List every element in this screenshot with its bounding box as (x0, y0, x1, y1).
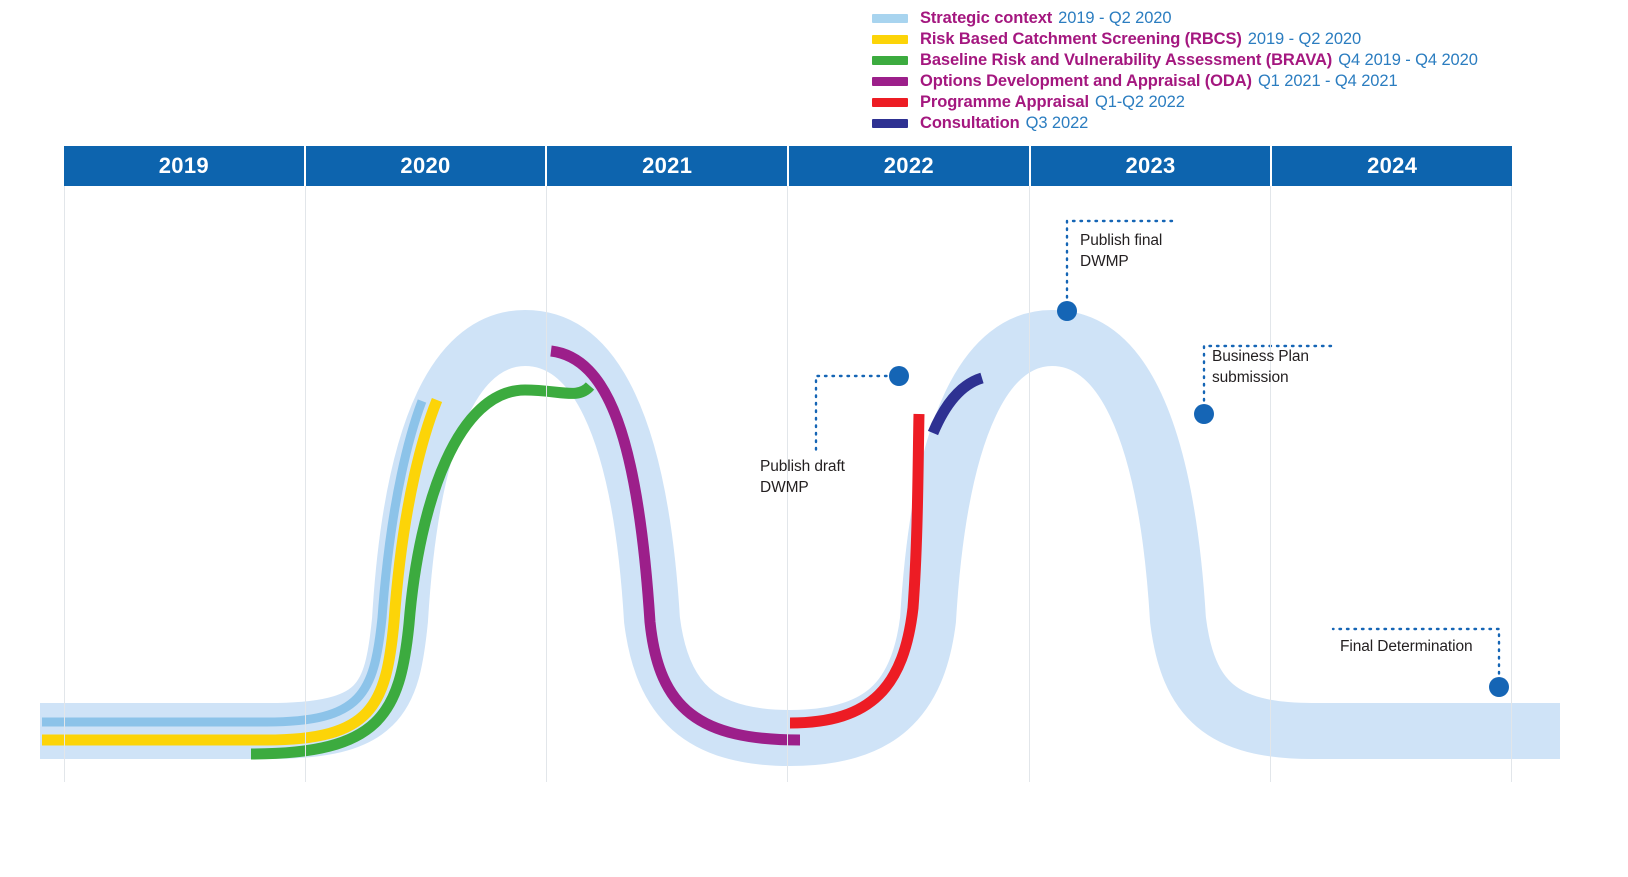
callout-label-business-plan-submission: Business Plan submission (1212, 347, 1309, 388)
year-cell-2021[interactable]: 2021 (547, 146, 789, 186)
gridline-2020 (305, 186, 306, 782)
legend-dates-oda: Q1 2021 - Q4 2021 (1258, 72, 1398, 91)
legend-label-programme-appraisal: Programme Appraisal (920, 93, 1089, 112)
legend-dates-strategic-context: 2019 - Q2 2020 (1058, 9, 1171, 28)
legend-item-brava[interactable]: Baseline Risk and Vulnerability Assessme… (872, 50, 1612, 71)
legend-dates-rbcs: 2019 - Q2 2020 (1248, 30, 1361, 49)
legend-swatch-strategic-context (872, 14, 908, 23)
year-cell-2020[interactable]: 2020 (306, 146, 548, 186)
year-cell-2019[interactable]: 2019 (64, 146, 306, 186)
legend-item-strategic-context[interactable]: Strategic context 2019 - Q2 2020 (872, 8, 1612, 29)
legend-swatch-rbcs (872, 35, 908, 44)
gridline-2021 (546, 186, 547, 782)
legend-item-oda[interactable]: Options Development and Appraisal (ODA) … (872, 71, 1612, 92)
legend-item-rbcs[interactable]: Risk Based Catchment Screening (RBCS) 20… (872, 29, 1612, 50)
gridline-2024 (1270, 186, 1271, 782)
legend: Strategic context 2019 - Q2 2020 Risk Ba… (872, 8, 1612, 134)
legend-label-rbcs: Risk Based Catchment Screening (RBCS) (920, 30, 1242, 49)
legend-swatch-consultation (872, 119, 908, 128)
year-header-bar: 2019 2020 2021 2022 2023 2024 (64, 146, 1512, 186)
legend-label-consultation: Consultation (920, 114, 1020, 133)
callout-label-publish-draft-dwmp: Publish draft DWMP (760, 457, 845, 498)
year-cell-2023[interactable]: 2023 (1031, 146, 1273, 186)
legend-item-consultation[interactable]: Consultation Q3 2022 (872, 113, 1612, 134)
callout-label-final-determination: Final Determination (1340, 637, 1473, 658)
legend-label-oda: Options Development and Appraisal (ODA) (920, 72, 1252, 91)
legend-dates-brava: Q4 2019 - Q4 2020 (1338, 51, 1478, 70)
legend-swatch-oda (872, 77, 908, 86)
gridline-right-edge (1511, 186, 1512, 782)
legend-item-programme-appraisal[interactable]: Programme Appraisal Q1-Q2 2022 (872, 92, 1612, 113)
gridline-2019-left (64, 186, 65, 782)
legend-swatch-brava (872, 56, 908, 65)
year-cell-2022[interactable]: 2022 (789, 146, 1031, 186)
callout-label-publish-final-dwmp: Publish final DWMP (1080, 231, 1162, 272)
legend-dates-consultation: Q3 2022 (1026, 114, 1089, 133)
legend-label-strategic-context: Strategic context (920, 9, 1052, 28)
gridline-2023 (1029, 186, 1030, 782)
legend-label-brava: Baseline Risk and Vulnerability Assessme… (920, 51, 1332, 70)
legend-dates-programme-appraisal: Q1-Q2 2022 (1095, 93, 1185, 112)
legend-swatch-programme-appraisal (872, 98, 908, 107)
year-cell-2024[interactable]: 2024 (1272, 146, 1512, 186)
